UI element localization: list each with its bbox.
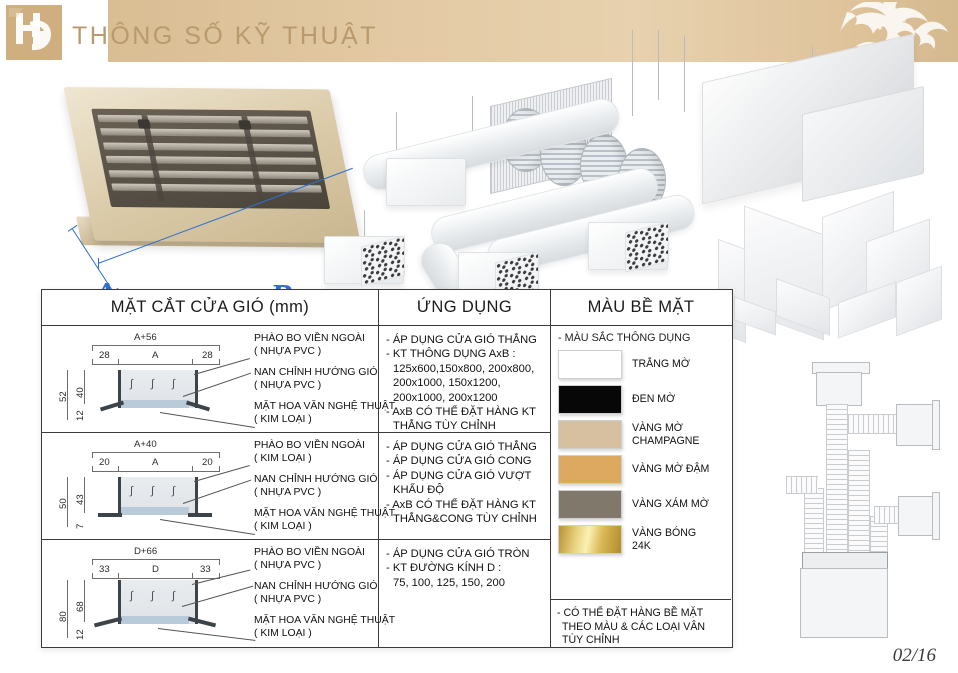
application-line: - ÁP DỤNG CỬA GIÓ CONG (386, 454, 544, 468)
application-line: 200x1000, 150x1200, (386, 376, 544, 390)
application-line: 125x600,150x800, 200x800, (386, 362, 544, 376)
schematic-flex-vertical-1 (826, 404, 848, 552)
schematic-top-plenum (816, 372, 862, 406)
table-body: A+56 28 A 28 52 40 12 (42, 326, 732, 647)
hg-monogram-icon (6, 5, 62, 60)
schematic-unit-body (800, 568, 888, 638)
dim-total-width-3: D+66 (134, 546, 157, 557)
application-list-1: - ÁP DỤNG CỬA GIÓ THẲNG - KT THÔNG DỤNG … (379, 326, 550, 434)
dim-height-flange-1: 12 (75, 410, 86, 421)
color-swatch-item: ĐEN MỜ (558, 385, 724, 414)
note-line: - CÓ THỂ ĐẶT HÀNG BỀ MẶT (557, 607, 724, 620)
callout-3-3: MẶT HOA VĂN NGHỆ THUẬT ( KIM LOẠI ) (254, 614, 395, 640)
table-row: D+66 33 D 33 80 68 12 (42, 540, 378, 647)
dim-height-flange-2: 7 (75, 524, 86, 529)
application-line: - ÁP DỤNG CỬA GIÓ TRÒN (386, 547, 544, 561)
schematic-outlet-2-flange (932, 492, 940, 540)
specification-table: MẶT CẮT CỬA GIÓ (mm) ỨNG DỤNG MÀU BỀ MẶT… (41, 289, 733, 648)
table-header-row: MẶT CẮT CỬA GIÓ (mm) ỨNG DỤNG MÀU BỀ MẶT (42, 290, 732, 326)
dim-right-2: 20 (202, 457, 213, 468)
schematic-outlet-2 (898, 496, 936, 536)
color-swatch-item: TRẮNG MỜ (558, 350, 724, 379)
application-line: THẲNG TÙY CHỈNH (386, 419, 544, 433)
dim-left-3: 33 (99, 564, 110, 575)
plenum-box-1 (324, 236, 404, 284)
column-cross-sections: A+56 28 A 28 52 40 12 (42, 326, 379, 647)
callout-2-2: NAN CHỈNH HƯỚNG GIÓ ( NHỰA PVC ) (254, 473, 377, 499)
callout-1-1: PHÀO BO VIỀN NGOÀI ( NHỰA PVC ) (254, 332, 365, 358)
dim-center-2: A (152, 457, 158, 468)
application-line: - KT ĐƯỜNG KÍNH D : (386, 561, 544, 575)
table-row: A+56 28 A 28 52 40 12 (42, 326, 378, 433)
schematic-outlet-1-flange (932, 400, 940, 450)
dim-total-width-1: A+56 (134, 332, 157, 343)
swatch-label: TRẮNG MỜ (632, 358, 690, 371)
dim-left-2: 20 (99, 457, 110, 468)
swatch-den-mo (558, 385, 622, 414)
cross-section-drawing-1: A+56 28 A 28 52 40 12 (42, 326, 378, 432)
color-list: - MÀU SẮC THÔNG DỤNG TRẮNG MỜ ĐEN MỜ (551, 326, 731, 560)
application-line: - AxB CÓ THỂ ĐẶT HÀNG KT (386, 498, 544, 512)
color-list-heading: - MÀU SẮC THÔNG DỤNG (558, 332, 724, 345)
swatch-label: VÀNG XÁM MỜ (632, 498, 709, 511)
dim-total-width-2: A+40 (134, 439, 157, 450)
cross-section-drawing-3: D+66 33 D 33 80 68 12 (42, 540, 378, 647)
plenum-box-3 (588, 222, 668, 270)
schematic-flex-vertical-3 (804, 488, 824, 552)
grille-face-3 (625, 222, 669, 273)
grille-face-1 (361, 236, 405, 287)
application-line: THẲNG&CONG TÙY CHỈNH (386, 512, 544, 526)
table-row: A+40 20 A 20 50 43 7 (42, 433, 378, 540)
dim-right-3: 33 (200, 564, 211, 575)
column-header-application: ỨNG DỤNG (379, 290, 551, 325)
dim-height-flange-3: 12 (75, 629, 86, 640)
note-line: TÙY CHỈNH (557, 634, 724, 647)
custom-surface-note: - CÓ THỂ ĐẶT HÀNG BỀ MẶT THEO MÀU & CÁC … (551, 599, 731, 647)
schematic-flex-horizontal-2 (786, 476, 818, 494)
color-swatch-item: VÀNG MỜ ĐẬM (558, 455, 724, 484)
swatch-vang-mo-dam (558, 455, 622, 484)
schematic-flex-horizontal-1 (848, 414, 900, 434)
schematic-flex-vertical-2 (848, 450, 870, 552)
column-surface-colors: - MÀU SẮC THÔNG DỤNG TRẮNG MỜ ĐEN MỜ (551, 326, 731, 647)
application-line: - KT THÔNG DỤNG AxB : (386, 347, 544, 361)
swatch-trang-mo (558, 350, 622, 379)
application-list-3: - ÁP DỤNG CỬA GIÓ TRÒN - KT ĐƯỜNG KÍNH D… (379, 540, 550, 590)
table-row: - ÁP DỤNG CỬA GIÓ TRÒN - KT ĐƯỜNG KÍNH D… (379, 540, 550, 647)
table-row: - ÁP DỤNG CỬA GIÓ THẲNG - KT THÔNG DỤNG … (379, 326, 550, 433)
column-applications: - ÁP DỤNG CỬA GIÓ THẲNG - KT THÔNG DỤNG … (379, 326, 551, 647)
application-line: - ÁP DỤNG CỬA GIÓ THẲNG (386, 440, 544, 454)
product-blade-area (92, 109, 330, 209)
application-line: 200x1000, 200x1200 (386, 391, 544, 405)
callout-1-3: MẶT HOA VĂN NGHỆ THUẬT ( KIM LOẠI ) (254, 400, 395, 426)
application-line: KHẨU ĐỘ (386, 483, 544, 497)
swatch-vang-xam-mo (558, 490, 622, 519)
plenum-box-4 (386, 158, 466, 206)
swatch-vang-bong-24k (558, 525, 622, 554)
callout-3-1: PHÀO BO VIỀN NGOÀI ( NHỰA PVC ) (254, 546, 365, 572)
room-cutaway-render (718, 200, 950, 350)
hg-logo (6, 5, 62, 60)
cross-section-drawing-2: A+40 20 A 20 50 43 7 (42, 433, 378, 539)
dim-center-3: D (152, 564, 159, 575)
application-line: - ÁP DỤNG CỬA GIÓ THẲNG (386, 333, 544, 347)
color-swatch-item: VÀNG MỜ CHAMPAGNE (558, 420, 724, 449)
color-swatch-item: VÀNG BÓNG 24K (558, 525, 724, 554)
application-line: - ÁP DỤNG CỬA GIÓ VƯỢT (386, 469, 544, 483)
callout-2-1: PHÀO BO VIỀN NGOÀI ( KIM LOẠI ) (254, 439, 365, 465)
page-number: 02/16 (893, 645, 936, 667)
swatch-label: VÀNG BÓNG 24K (632, 527, 696, 552)
application-line: - AxB CÓ THỂ ĐẶT HÀNG KT (386, 405, 544, 419)
dim-left-1: 28 (99, 350, 110, 361)
dim-right-1: 28 (202, 350, 213, 361)
swatch-label: VÀNG MỜ CHAMPAGNE (632, 422, 700, 447)
dim-center-1: A (152, 350, 158, 361)
swatch-vang-mo-champagne (558, 420, 622, 449)
duct-schematic-drawing (786, 358, 958, 648)
application-list-2: - ÁP DỤNG CỬA GIÓ THẲNG - ÁP DỤNG CỬA GI… (379, 433, 550, 526)
swatch-label: VÀNG MỜ ĐẬM (632, 463, 709, 476)
note-line: THEO MÀU & CÁC LOẠI VÂN (557, 621, 724, 634)
callout-3-2: NAN CHỈNH HƯỚNG GIÓ ( NHỰA PVC ) (254, 580, 377, 606)
callout-1-2: NAN CHỈNH HƯỚNG GIÓ ( NHỰA PVC ) (254, 366, 377, 392)
column-header-section: MẶT CẮT CỬA GIÓ (mm) (42, 290, 379, 325)
column-header-surface-color: MÀU BỀ MẶT (551, 290, 731, 325)
swatch-label: ĐEN MỜ (632, 393, 675, 406)
schematic-outlet-1 (896, 404, 936, 446)
application-line: 75, 100, 125, 150, 200 (386, 576, 544, 590)
callout-2-3: MẶT HOA VĂN NGHỆ THUẬT ( KIM LOẠI ) (254, 507, 395, 533)
slide-page: THÔNG SỐ KỸ THUẬT (0, 0, 958, 673)
color-swatch-item: VÀNG XÁM MỜ (558, 490, 724, 519)
table-row: - ÁP DỤNG CỬA GIÓ THẲNG - ÁP DỤNG CỬA GI… (379, 433, 550, 540)
